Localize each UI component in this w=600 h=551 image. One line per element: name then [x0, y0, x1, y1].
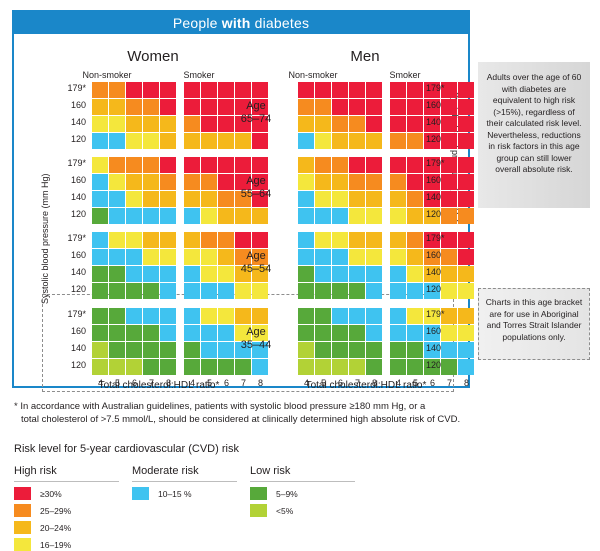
- bp-tick-label: 179*: [426, 307, 452, 324]
- heatmap-cell: [390, 266, 406, 282]
- legend-items-moderate-risk: 10–15 %: [132, 487, 237, 500]
- heatmap-cell: [315, 249, 331, 265]
- heatmap-cell: [298, 232, 314, 248]
- heatmap-cell: [298, 174, 314, 190]
- heatmap-cell: [184, 133, 200, 149]
- heatmap-cell: [349, 266, 365, 282]
- heatmap-cell: [332, 174, 348, 190]
- heatmap-cell: [390, 342, 406, 358]
- heatmap-cell: [160, 208, 176, 224]
- heatmap-cell: [458, 99, 474, 115]
- heatmap-cell: [366, 359, 382, 375]
- legend-item: 5–9%: [250, 487, 355, 500]
- heatmap-cell: [143, 99, 159, 115]
- heatmap-cell: [160, 325, 176, 341]
- heatmap-cell: [407, 308, 423, 324]
- heatmap-cell: [407, 116, 423, 132]
- heatmap-cell: [407, 359, 423, 375]
- heatmap-cell: [184, 249, 200, 265]
- heatmap-cell: [298, 325, 314, 341]
- heatmap-cell: [109, 232, 125, 248]
- panel-header-text: People with diabetes: [173, 15, 309, 31]
- footnote-line-1: * In accordance with Australian guidelin…: [14, 401, 425, 412]
- heatmap-cell: [201, 82, 217, 98]
- legend-label: <5%: [276, 506, 293, 516]
- bp-tick-label: 179*: [60, 81, 86, 98]
- heatmap-cell: [184, 208, 200, 224]
- legend-heading-moderate-risk: Moderate risk: [132, 465, 237, 482]
- legend-group-low-risk: Low risk 5–9%<5%: [250, 465, 355, 517]
- heatmap-cell: [143, 325, 159, 341]
- heatmap-cell: [349, 325, 365, 341]
- heatmap-cell: [390, 174, 406, 190]
- heatmap-cell: [298, 266, 314, 282]
- sex-title-men: Men: [290, 48, 440, 65]
- age-prefix: Age: [226, 175, 286, 188]
- heatmap-cell: [458, 325, 474, 341]
- heatmap-cell: [143, 82, 159, 98]
- bp-tick-label: 160: [60, 98, 86, 115]
- heatmap-cell: [126, 308, 142, 324]
- legend-item: <5%: [250, 504, 355, 517]
- legend-swatch: [14, 521, 31, 534]
- heatmap-cell: [298, 249, 314, 265]
- heatmap-cell: [160, 232, 176, 248]
- heatmap-cell: [160, 359, 176, 375]
- heatmap-cell: [160, 174, 176, 190]
- heatmap-cell: [407, 266, 423, 282]
- heatmap-cell: [184, 283, 200, 299]
- heatmap-cell: [201, 99, 217, 115]
- smoking-title-women-smoker: Smoker: [156, 70, 242, 80]
- bp-tick-labels: 179*160140120: [426, 81, 452, 149]
- smoking-title-men-smoker: Smoker: [362, 70, 448, 80]
- heatmap-cell: [349, 191, 365, 207]
- heatmap-cell: [407, 157, 423, 173]
- heatmap-cell: [218, 82, 234, 98]
- heatmap-cell: [109, 82, 125, 98]
- heatmap-cell: [458, 249, 474, 265]
- heatmap-cell: [143, 116, 159, 132]
- heatmap-cell: [143, 342, 159, 358]
- heatmap-cell: [184, 157, 200, 173]
- heatmap-cell: [252, 232, 268, 248]
- heatmap-cell: [332, 308, 348, 324]
- heatmap-cell: [92, 157, 108, 173]
- heatmap-cell: [458, 174, 474, 190]
- heatmap-cell: [109, 283, 125, 299]
- heatmap-cell: [160, 249, 176, 265]
- heatmap-cell: [315, 359, 331, 375]
- bp-tick-labels: 179*160140120: [60, 81, 86, 149]
- heatmap-cell: [315, 283, 331, 299]
- heatmap-cell: [126, 342, 142, 358]
- heatmap-cell: [201, 208, 217, 224]
- bp-tick-label: 179*: [60, 307, 86, 324]
- heatmap-cell: [218, 359, 234, 375]
- legend-label: 10–15 %: [158, 489, 192, 499]
- heatmap-cell: [126, 82, 142, 98]
- legend-items-low-risk: 5–9%<5%: [250, 487, 355, 517]
- heatmap-cell: [298, 283, 314, 299]
- bp-tick-label: 179*: [426, 231, 452, 248]
- heatmap-cell: [126, 116, 142, 132]
- smoking-title-women-nonsmoker: Non-smoker: [64, 70, 150, 80]
- heatmap-cell: [235, 308, 251, 324]
- heatmap-cell: [126, 99, 142, 115]
- heatmap-cell: [143, 232, 159, 248]
- heatmap-cell: [390, 283, 406, 299]
- bp-tick-labels: 179*160140120: [60, 156, 86, 224]
- bp-tick-label: 160: [60, 173, 86, 190]
- heatmap-cell: [366, 283, 382, 299]
- note-high-risk-over-60: Adults over the age of 60 with diabetes …: [478, 62, 590, 208]
- legend-group-high-risk: High risk ≥30%25–29%20–24%16–19%: [14, 465, 119, 551]
- heatmap-cell: [458, 283, 474, 299]
- heatmap-cell: [458, 266, 474, 282]
- heatmap-cell: [184, 116, 200, 132]
- heatmap-grid: [92, 308, 176, 375]
- heatmap-cell: [390, 116, 406, 132]
- heatmap-cell: [315, 82, 331, 98]
- heatmap-cell: [252, 157, 268, 173]
- heatmap-cell: [126, 232, 142, 248]
- heatmap-grid: [92, 232, 176, 299]
- heatmap-cell: [315, 157, 331, 173]
- bp-tick-label: 120: [60, 132, 86, 149]
- heatmap-cell: [126, 325, 142, 341]
- bp-tick-label: 120: [426, 282, 452, 299]
- heatmap-cell: [332, 359, 348, 375]
- heatmap-cell: [109, 249, 125, 265]
- heatmap-cell: [160, 82, 176, 98]
- heatmap-cell: [332, 232, 348, 248]
- heatmap-cell: [160, 342, 176, 358]
- heatmap-cell: [315, 232, 331, 248]
- bp-tick-label: 160: [60, 248, 86, 265]
- heatmap-cell: [235, 82, 251, 98]
- heatmap-cell: [143, 174, 159, 190]
- heatmap-cell: [92, 249, 108, 265]
- heatmap-cell: [184, 99, 200, 115]
- age-range: 45–54: [226, 263, 286, 276]
- legend-group-moderate-risk: Moderate risk 10–15 %: [132, 465, 237, 500]
- heatmap-cell: [252, 308, 268, 324]
- heatmap-cell: [126, 174, 142, 190]
- age-range: 65–74: [226, 113, 286, 126]
- legend-item: 10–15 %: [132, 487, 237, 500]
- heatmap-cell: [366, 191, 382, 207]
- heatmap-cell: [390, 359, 406, 375]
- heatmap-cell: [109, 116, 125, 132]
- legend: Risk level for 5-year cardiovascular (CV…: [14, 443, 434, 463]
- heatmap-cell: [298, 116, 314, 132]
- heatmap-cell: [184, 266, 200, 282]
- age-group-label: Age35–44: [226, 326, 286, 352]
- legend-swatch: [250, 487, 267, 500]
- heatmap-cell: [184, 174, 200, 190]
- heatmap-cell: [407, 133, 423, 149]
- heatmap-grid: [298, 82, 382, 149]
- heatmap-cell: [160, 266, 176, 282]
- heatmap-cell: [315, 266, 331, 282]
- legend-swatch: [250, 504, 267, 517]
- heatmap-cell: [109, 342, 125, 358]
- heatmap-cell: [184, 232, 200, 248]
- heatmap-cell: [252, 359, 268, 375]
- bp-tick-label: 120: [426, 358, 452, 375]
- heatmap-cell: [92, 283, 108, 299]
- heatmap-cell: [315, 116, 331, 132]
- heatmap-cell: [298, 133, 314, 149]
- heatmap-cell: [390, 232, 406, 248]
- heatmap-cell: [201, 249, 217, 265]
- heatmap-cell: [126, 133, 142, 149]
- heatmap-cell: [92, 174, 108, 190]
- bp-tick-label: 179*: [60, 231, 86, 248]
- heatmap-cell: [252, 133, 268, 149]
- heatmap-cell: [349, 82, 365, 98]
- heatmap-cell: [366, 266, 382, 282]
- heatmap-cell: [218, 208, 234, 224]
- heatmap-cell: [332, 325, 348, 341]
- heatmap-cell: [366, 157, 382, 173]
- bp-tick-label: 160: [426, 98, 452, 115]
- heatmap-cell: [349, 208, 365, 224]
- heatmap-cell: [458, 133, 474, 149]
- heatmap-cell: [349, 133, 365, 149]
- heatmap-cell: [315, 191, 331, 207]
- heatmap-cell: [160, 283, 176, 299]
- heatmap-cell: [366, 308, 382, 324]
- smoking-title-men-nonsmoker: Non-smoker: [270, 70, 356, 80]
- age-range: 35–44: [226, 339, 286, 352]
- heatmap-cell: [407, 342, 423, 358]
- heatmap-cell: [390, 308, 406, 324]
- heatmap-cell: [458, 308, 474, 324]
- heatmap-cell: [109, 157, 125, 173]
- heatmap-cell: [160, 133, 176, 149]
- heatmap-cell: [315, 325, 331, 341]
- legend-items-high-risk: ≥30%25–29%20–24%16–19%: [14, 487, 119, 551]
- heatmap-cell: [126, 249, 142, 265]
- heatmap-cell: [458, 342, 474, 358]
- legend-item: 25–29%: [14, 504, 119, 517]
- heatmap-cell: [109, 266, 125, 282]
- heatmap-cell: [126, 191, 142, 207]
- heatmap-cell: [332, 133, 348, 149]
- heatmap-cell: [218, 232, 234, 248]
- heatmap-cell: [458, 157, 474, 173]
- heatmap-cell: [298, 208, 314, 224]
- bp-tick-labels: 179*160140120: [426, 231, 452, 299]
- heatmap-cell: [366, 133, 382, 149]
- bp-tick-label: 120: [60, 358, 86, 375]
- heatmap-cell: [235, 232, 251, 248]
- heatmap-cell: [390, 191, 406, 207]
- heatmap-cell: [332, 266, 348, 282]
- sex-title-women: Women: [78, 48, 228, 65]
- heatmap-cell: [92, 342, 108, 358]
- bp-tick-label: 179*: [60, 156, 86, 173]
- heatmap-cell: [218, 308, 234, 324]
- heatmap-cell: [458, 359, 474, 375]
- heatmap-cell: [92, 308, 108, 324]
- bp-tick-label: 140: [60, 115, 86, 132]
- risk-chart-panel: People with diabetes Women Men Non-smoke…: [12, 10, 470, 388]
- heatmap-grid: [298, 232, 382, 299]
- heatmap-cell: [126, 266, 142, 282]
- legend-label: ≥30%: [40, 489, 62, 499]
- legend-label: 20–24%: [40, 523, 71, 533]
- heatmap-cell: [407, 174, 423, 190]
- heatmap-cell: [315, 174, 331, 190]
- heatmap-cell: [366, 249, 382, 265]
- heatmap-cell: [160, 191, 176, 207]
- heatmap-cell: [109, 99, 125, 115]
- heatmap-cell: [109, 191, 125, 207]
- heatmap-cell: [349, 283, 365, 299]
- heatmap-cell: [298, 308, 314, 324]
- heatmap-cell: [366, 325, 382, 341]
- heatmap-cell: [332, 191, 348, 207]
- heatmap-cell: [218, 157, 234, 173]
- heatmap-cell: [201, 157, 217, 173]
- heatmap-cell: [332, 249, 348, 265]
- heatmap-cell: [390, 157, 406, 173]
- age-prefix: Age: [226, 250, 286, 263]
- age-group-label: Age55–64: [226, 175, 286, 201]
- heatmap-cell: [92, 325, 108, 341]
- heatmap-cell: [201, 342, 217, 358]
- legend-swatch: [132, 487, 149, 500]
- heatmap-cell: [366, 82, 382, 98]
- heatmap-cell: [298, 342, 314, 358]
- heatmap-cell: [407, 325, 423, 341]
- footnote: * In accordance with Australian guidelin…: [14, 400, 484, 426]
- age-range: 55–64: [226, 188, 286, 201]
- bp-tick-labels: 179*160140120: [60, 231, 86, 299]
- heatmap-cell: [252, 283, 268, 299]
- heatmap-cell: [458, 116, 474, 132]
- bp-tick-label: 179*: [426, 81, 452, 98]
- legend-label: 5–9%: [276, 489, 298, 499]
- bp-tick-label: 140: [60, 341, 86, 358]
- heatmap-cell: [92, 116, 108, 132]
- heatmap-cell: [184, 191, 200, 207]
- heatmap-cell: [349, 174, 365, 190]
- heatmap-cell: [315, 133, 331, 149]
- heatmap-cell: [92, 232, 108, 248]
- heatmap-grid: [298, 308, 382, 375]
- bp-tick-label: 160: [60, 324, 86, 341]
- bp-tick-label: 120: [426, 207, 452, 224]
- heatmap-cell: [92, 99, 108, 115]
- heatmap-cell: [143, 249, 159, 265]
- bp-tick-label: 179*: [426, 156, 452, 173]
- heatmap-cell: [390, 249, 406, 265]
- bp-tick-label: 120: [60, 282, 86, 299]
- heatmap-cell: [349, 342, 365, 358]
- heatmap-cell: [349, 249, 365, 265]
- heatmap-cell: [390, 208, 406, 224]
- heatmap-cell: [332, 82, 348, 98]
- legend-swatch: [14, 487, 31, 500]
- bp-tick-label: 140: [426, 115, 452, 132]
- heatmap-cell: [160, 116, 176, 132]
- heatmap-cell: [366, 99, 382, 115]
- heatmap-cell: [349, 99, 365, 115]
- heatmap-cell: [143, 157, 159, 173]
- heatmap-cell: [407, 99, 423, 115]
- heatmap-cell: [109, 208, 125, 224]
- heatmap-cell: [143, 359, 159, 375]
- heatmap-cell: [366, 342, 382, 358]
- bp-tick-label: 140: [426, 265, 452, 282]
- heatmap-cell: [390, 325, 406, 341]
- heatmap-cell: [332, 157, 348, 173]
- heatmap-cell: [407, 283, 423, 299]
- heatmap-cell: [298, 359, 314, 375]
- heatmap-cell: [332, 208, 348, 224]
- heatmap-cell: [184, 308, 200, 324]
- heatmap-cell: [143, 283, 159, 299]
- age-prefix: Age: [226, 326, 286, 339]
- heatmap-cell: [160, 308, 176, 324]
- heatmap-cell: [407, 232, 423, 248]
- x-axis-label-men: Total cholesterol:HDL ratio*: [266, 380, 466, 391]
- heatmap-cell: [298, 157, 314, 173]
- legend-swatch: [14, 504, 31, 517]
- bp-tick-label: 160: [426, 248, 452, 265]
- heatmap-cell: [366, 116, 382, 132]
- heatmap-cell: [201, 266, 217, 282]
- heatmap-cell: [235, 157, 251, 173]
- heatmap-cell: [349, 157, 365, 173]
- bp-tick-labels: 179*160140120: [426, 307, 452, 375]
- heatmap-cell: [184, 82, 200, 98]
- heatmap-cell: [252, 208, 268, 224]
- heatmap-cell: [458, 208, 474, 224]
- legend-label: 25–29%: [40, 506, 71, 516]
- heatmap-grid: [298, 157, 382, 224]
- heatmap-cell: [390, 133, 406, 149]
- heatmap-cell: [184, 359, 200, 375]
- heatmap-cell: [315, 342, 331, 358]
- bp-tick-label: 160: [426, 173, 452, 190]
- heatmap-cell: [298, 191, 314, 207]
- heatmap-cell: [332, 342, 348, 358]
- heatmap-cell: [218, 283, 234, 299]
- heatmap-cell: [332, 283, 348, 299]
- heatmap-cell: [407, 191, 423, 207]
- heatmap-cell: [458, 232, 474, 248]
- bp-tick-label: 140: [426, 190, 452, 207]
- heatmap-cell: [315, 208, 331, 224]
- heatmap-cell: [201, 191, 217, 207]
- legend-label: 16–19%: [40, 540, 71, 550]
- heatmap-cell: [332, 99, 348, 115]
- heatmap-cell: [349, 359, 365, 375]
- heatmap-cell: [184, 342, 200, 358]
- legend-heading-low-risk: Low risk: [250, 465, 355, 482]
- heatmap-cell: [109, 133, 125, 149]
- y-axis-label-left: Systolic blood pressure (mm Hg): [40, 173, 50, 304]
- heatmap-cell: [458, 191, 474, 207]
- heatmap-cell: [109, 359, 125, 375]
- heatmap-cell: [126, 157, 142, 173]
- heatmap-cell: [126, 359, 142, 375]
